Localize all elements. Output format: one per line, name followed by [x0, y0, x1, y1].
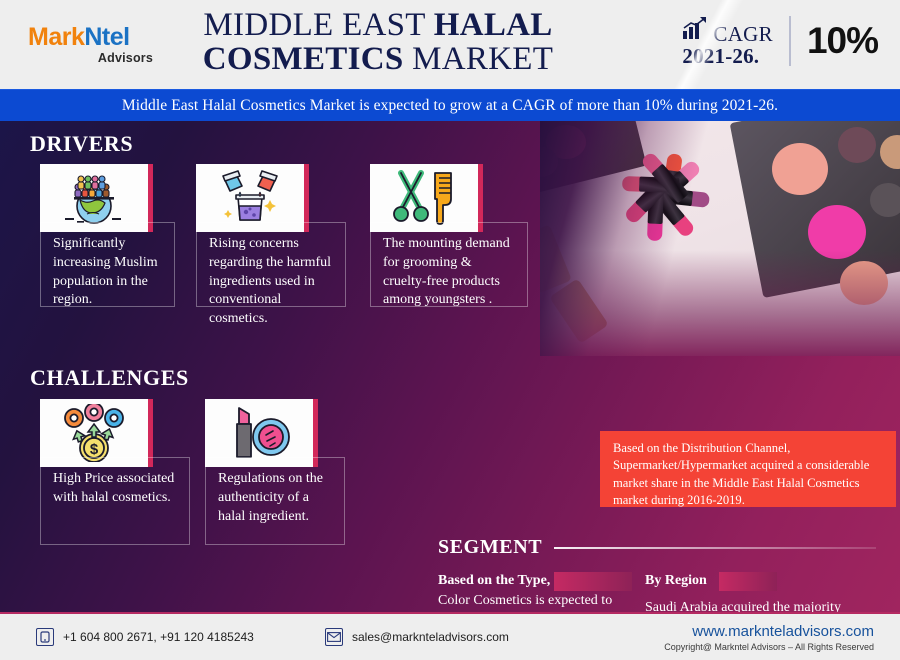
cagr-value: 10% — [807, 20, 878, 62]
segment-text-region: Saudi Arabia acquired the majority share… — [645, 599, 855, 612]
photo-fade-overlay — [540, 121, 900, 356]
footer-website[interactable]: www.marknteladvisors.com Copyright@ Mark… — [664, 623, 874, 652]
logo-ntel-text: Ntel — [84, 23, 129, 51]
infographic-page: MarkNtel Advisors MIDDLE EAST HALAL COSM… — [0, 0, 900, 660]
footer-email[interactable]: sales@marknteladvisors.com — [325, 628, 509, 646]
bar-chart-growth-icon — [682, 16, 708, 45]
cosmetics-photo — [540, 121, 900, 356]
footer-phone-text: +1 604 800 2671, +91 120 4185243 — [63, 630, 254, 644]
segment-label-highlight — [554, 572, 632, 591]
cagr-divider — [789, 16, 791, 66]
svg-text:$: $ — [90, 441, 99, 458]
brand-logo[interactable]: MarkNtel Advisors — [28, 25, 153, 65]
content-area: DRIVERS — [0, 121, 900, 612]
challenge-card-1: $ High Price associated with halal cosme… — [40, 399, 190, 545]
footer-phone[interactable]: +1 604 800 2671, +91 120 4185243 — [36, 628, 254, 646]
logo-mark-text: Mark — [28, 23, 84, 51]
driver-card-2: Rising concerns regarding the harmful in… — [196, 164, 346, 307]
cagr-label-row: CAGR — [682, 16, 773, 45]
footer: +1 604 800 2671, +91 120 4185243 sales@m… — [0, 612, 900, 660]
segment-label-region: By Region — [645, 573, 707, 589]
driver-card-1: Significantly increasing Muslim populati… — [40, 164, 175, 307]
cagr-years: 2021-26. — [682, 45, 773, 67]
title-part-cosmetics: COSMETICS — [203, 41, 404, 77]
title-part-market: MARKET — [404, 41, 554, 77]
driver-text-2: Rising concerns regarding the harmful in… — [196, 222, 346, 307]
drivers-heading: DRIVERS — [30, 131, 133, 157]
segment-label-highlight — [719, 572, 777, 591]
cagr-block: CAGR 2021-26. 10% — [682, 16, 878, 67]
title-part-middle-east: MIDDLE EAST — [203, 7, 433, 43]
header: MarkNtel Advisors MIDDLE EAST HALAL COSM… — [0, 0, 900, 89]
logo-wordmark: MarkNtel — [28, 25, 153, 50]
footer-copyright: Copyright@ Markntel Advisors – All Right… — [664, 642, 874, 652]
driver-text-3: The mounting demand for grooming & cruel… — [370, 222, 528, 307]
segment-rule — [554, 547, 876, 549]
footer-website-url[interactable]: www.marknteladvisors.com — [664, 623, 874, 640]
phone-icon — [36, 628, 54, 646]
title-line-1: MIDDLE EAST HALAL — [168, 9, 588, 43]
footer-email-text: sales@marknteladvisors.com — [352, 630, 509, 644]
envelope-icon — [325, 628, 343, 646]
page-title: MIDDLE EAST HALAL COSMETICS MARKET — [168, 9, 588, 76]
segment-title: SEGMENT — [438, 536, 542, 559]
segment-text-type: Color Cosmetics is expected to show stur… — [438, 592, 630, 612]
challenge-text-1: High Price associated with halal cosmeti… — [40, 457, 190, 545]
segment-column-region: By Region Saudi Arabia acquired the majo… — [645, 571, 855, 612]
segment-label-type: Based on the Type, — [438, 573, 550, 589]
challenge-text-2: Regulations on the authenticity of a hal… — [205, 457, 345, 545]
distribution-channel-callout: Based on the Distribution Channel, Super… — [600, 431, 896, 507]
segment-heading: SEGMENT — [438, 536, 876, 559]
cagr-label-group: CAGR 2021-26. — [682, 16, 773, 67]
driver-text-1: Significantly increasing Muslim populati… — [40, 222, 175, 307]
challenges-heading: CHALLENGES — [30, 365, 189, 391]
segment-column-type: Based on the Type, Color Cosmetics is ex… — [438, 571, 630, 612]
challenge-card-2: Regulations on the authenticity of a hal… — [205, 399, 345, 545]
cagr-label: CAGR — [713, 23, 773, 45]
logo-subtitle: Advisors — [28, 52, 153, 65]
title-part-halal: HALAL — [434, 7, 553, 43]
headline-banner: Middle East Halal Cosmetics Market is ex… — [0, 89, 900, 121]
title-line-2: COSMETICS MARKET — [168, 43, 588, 77]
driver-card-3: The mounting demand for grooming & cruel… — [370, 164, 528, 307]
